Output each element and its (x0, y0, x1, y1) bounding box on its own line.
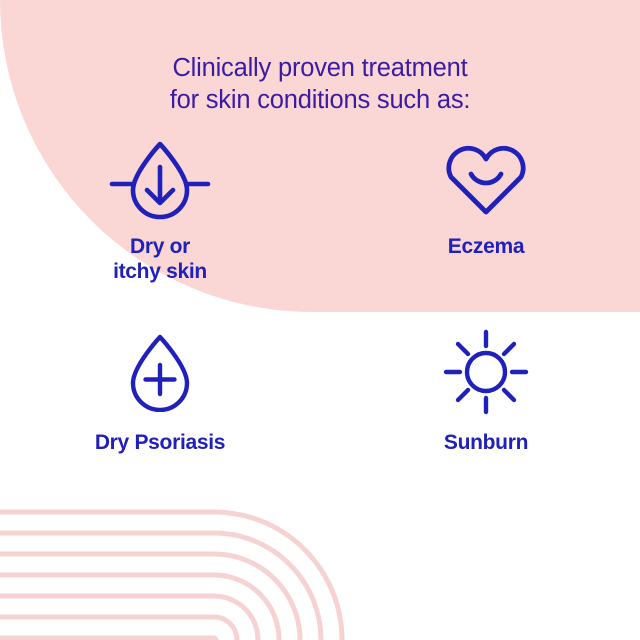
icon-container (108, 140, 212, 220)
condition-label: Sunburn (444, 430, 528, 455)
poster: Clinically proven treatment for skin con… (0, 0, 640, 640)
icon-container (443, 140, 529, 220)
icon-container (442, 332, 530, 412)
droplet-down-arrow-icon (108, 139, 212, 221)
condition-item-eczema: Eczema (314, 140, 640, 290)
condition-label: Dry or itchy skin (113, 234, 207, 284)
droplet-plus-icon (124, 332, 196, 412)
condition-label: Dry Psoriasis (95, 430, 225, 455)
condition-item-sunburn: Sunburn (314, 332, 640, 477)
conditions-row-1: Dry or itchy skin (0, 140, 640, 290)
conditions-row-2: Dry Psoriasis (0, 332, 640, 477)
conditions-grid: Dry or itchy skin (0, 140, 640, 477)
condition-item-dry-or-itchy-skin: Dry or itchy skin (0, 140, 314, 290)
icon-container (124, 332, 196, 412)
page-title: Clinically proven treatment for skin con… (0, 52, 640, 116)
sun-icon (442, 328, 530, 416)
heart-smile-icon (443, 143, 529, 217)
content-area: Clinically proven treatment for skin con… (0, 0, 640, 640)
condition-item-dry-psoriasis: Dry Psoriasis (0, 332, 314, 477)
condition-label: Eczema (448, 234, 524, 259)
